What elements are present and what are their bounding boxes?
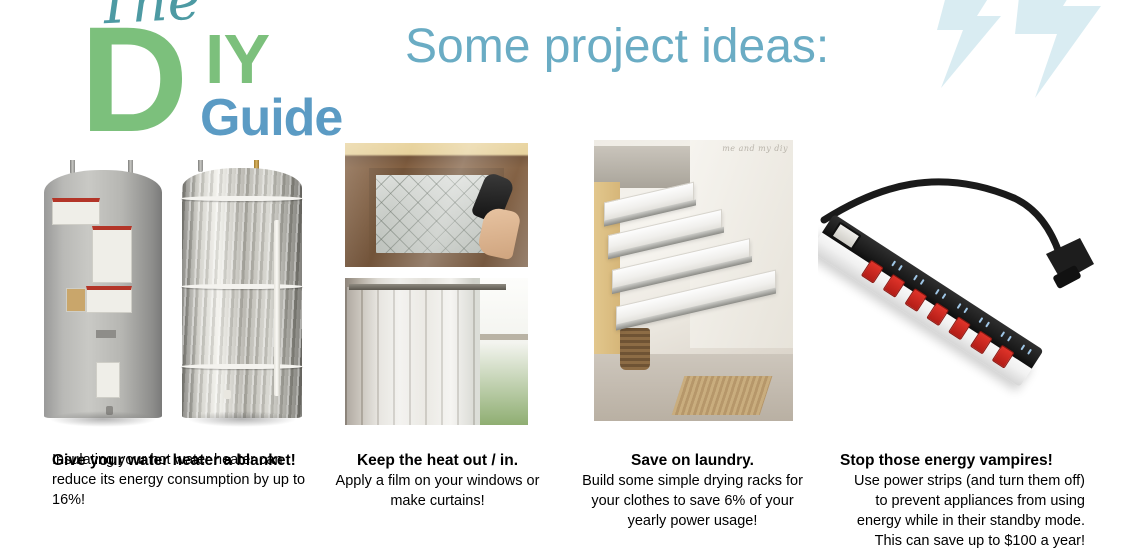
caption-water-heater: Give your water heater a blanket! Insula… (52, 450, 302, 531)
curtain-rod (349, 284, 506, 290)
strap-top (181, 196, 303, 201)
caption-laundry: Save on laundry. Build some simple dryin… (575, 450, 810, 531)
caption-vampires: Stop those energy vampires! Use power st… (840, 450, 1085, 550)
access-panel (96, 362, 120, 398)
window-mullion (480, 334, 528, 340)
tank-body (44, 170, 162, 418)
image-curtains (345, 278, 528, 425)
caption-heading: Keep the heat out / in. (330, 450, 545, 471)
image-water-heaters (30, 160, 330, 430)
outlet-socket (908, 271, 929, 292)
outlet-socket (886, 257, 907, 278)
drain-valve-2 (224, 390, 231, 399)
lightning-bolt-icon (915, 0, 1125, 102)
caption-heading: Save on laundry. (575, 450, 810, 471)
image-power-strip (818, 142, 1118, 432)
strap-middle (181, 284, 303, 289)
window-pane (480, 278, 528, 425)
pipe-inlet-2 (198, 160, 203, 172)
image-drying-racks: me and my diy (594, 140, 793, 421)
warning-label-top (52, 198, 100, 225)
film-photo (345, 143, 528, 267)
caption-body: Build some simple drying racks for your … (575, 471, 810, 531)
floor-mat (671, 376, 771, 415)
image-window-film (345, 143, 528, 267)
caption-body: Apply a film on your windows or make cur… (330, 471, 545, 511)
logo-letters-iy: IY (205, 24, 269, 94)
strap-bottom (181, 364, 303, 369)
warning-label-lower (86, 286, 132, 313)
curtain-photo (345, 278, 528, 425)
outlet-socket (995, 328, 1016, 349)
wicker-basket (620, 328, 650, 370)
watermark-text: me and my diy (722, 144, 788, 153)
logo-letter-d: D (80, 14, 182, 144)
caption-window: Keep the heat out / in. Apply a film on … (330, 450, 545, 511)
outlet-socket (930, 285, 951, 306)
tank-shadow-2 (187, 411, 297, 427)
spec-plate (66, 288, 86, 312)
outlet-socket (952, 299, 973, 320)
brand-plate (96, 330, 116, 338)
water-heater-uninsulated (44, 170, 162, 418)
water-heater-insulated (182, 168, 302, 418)
insulation-blanket (182, 168, 302, 418)
logo-word-guide: Guide (200, 92, 342, 144)
outlet-socket (973, 313, 994, 334)
caption-body: Use power strips (and turn them off) to … (840, 471, 1085, 550)
slide-canvas: The D IY Guide Some project ideas: (0, 0, 1125, 550)
warning-label-mid (92, 226, 132, 283)
curtain-pleats (345, 287, 480, 425)
caption-body: Insulating your hot water heater can red… (52, 450, 314, 510)
overflow-pipe (274, 220, 280, 396)
tank-shadow (49, 411, 158, 427)
page-title: Some project ideas: (405, 18, 829, 76)
outlet-socket (1015, 341, 1036, 362)
caption-heading: Stop those energy vampires! (840, 450, 1085, 471)
racks-photo: me and my diy (594, 140, 793, 421)
